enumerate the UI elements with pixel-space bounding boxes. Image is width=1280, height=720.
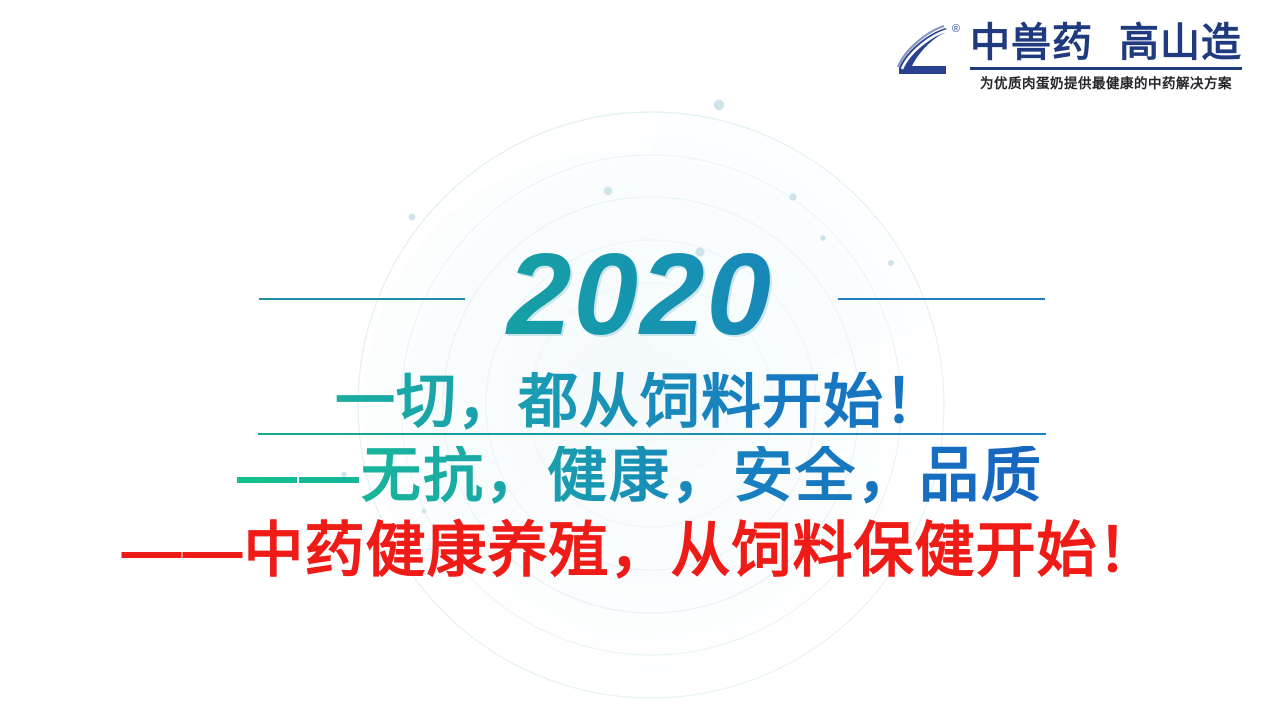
divider-middle	[258, 433, 1046, 435]
logo-mark-icon: ®	[894, 22, 956, 86]
year-headline: 2020	[0, 236, 1280, 352]
headline-line-1: 一切，都从饲料开始！	[0, 372, 1280, 432]
logo-title: 中兽药高山造	[970, 22, 1242, 64]
logo-title-right: 高山造	[1119, 21, 1242, 65]
logo-divider	[970, 67, 1242, 70]
hero-block: 2020 一切，都从饲料开始！ ——无抗，健康，安全，品质 ——中药健康养殖，从…	[0, 236, 1280, 581]
slide-canvas: ® 中兽药高山造 为优质肉蛋奶提供最健康的中药解决方案 2020 一切，都从饲料…	[0, 0, 1280, 720]
logo-text-block: 中兽药高山造 为优质肉蛋奶提供最健康的中药解决方案	[970, 22, 1242, 92]
registered-trademark-icon: ®	[952, 24, 960, 35]
rule-row-mid	[0, 433, 1280, 435]
headline-line-2: ——无抗，健康，安全，品质	[0, 446, 1280, 506]
logo-title-left: 中兽药	[970, 21, 1093, 65]
logo-tagline: 为优质肉蛋奶提供最健康的中药解决方案	[970, 72, 1242, 92]
headline-line-3: ——中药健康养殖，从饲料保健开始！	[0, 521, 1280, 581]
brand-logo: ® 中兽药高山造 为优质肉蛋奶提供最健康的中药解决方案	[894, 22, 1242, 92]
